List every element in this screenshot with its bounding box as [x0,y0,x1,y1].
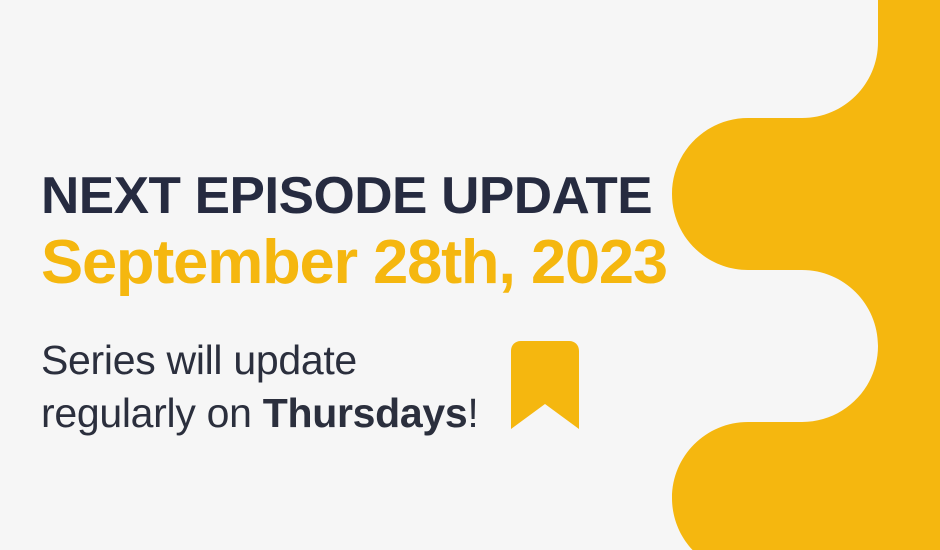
next-episode-update-banner: NEXT EPISODE UPDATE September 28th, 2023… [0,0,940,550]
bookmark-icon [510,340,580,430]
subcopy-line-1: Series will update [41,334,511,387]
subcopy-line-2-prefix: regularly on [41,390,263,436]
headline-block: NEXT EPISODE UPDATE September 28th, 2023 [41,168,801,296]
page-title: NEXT EPISODE UPDATE [41,168,816,224]
subcopy-line-2: regularly on Thursdays! [41,387,511,440]
episode-date: September 28th, 2023 [41,224,816,296]
subcopy-block: Series will update regularly on Thursday… [41,334,511,440]
bookmark-shape-path [511,341,579,429]
subcopy-line-2-emphasis: Thursdays [263,390,468,436]
subcopy-line-2-suffix: ! [467,390,478,436]
